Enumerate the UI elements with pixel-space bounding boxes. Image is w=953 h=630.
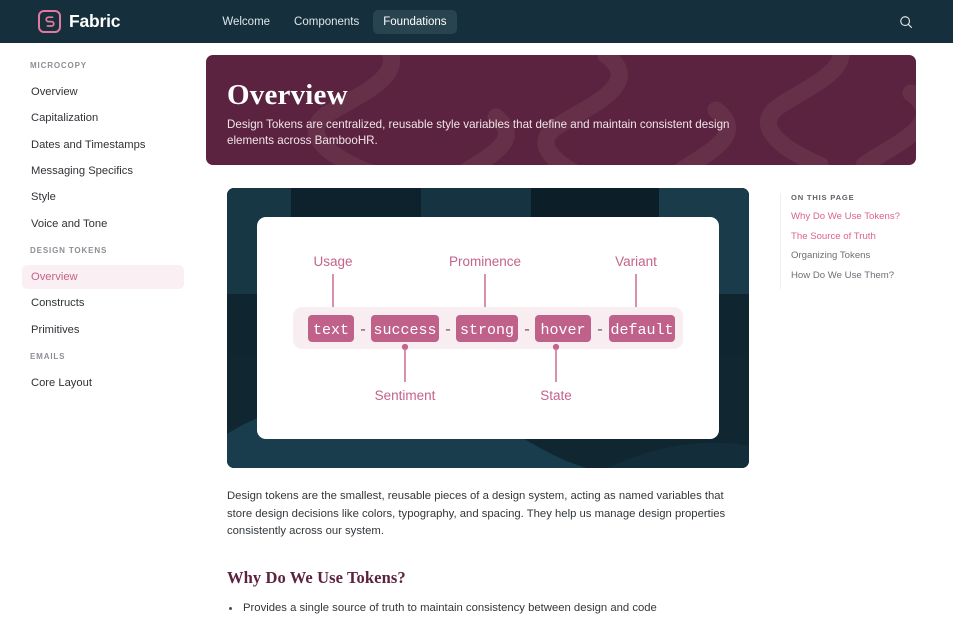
- sidebar-item-messaging-specifics[interactable]: Messaging Specifics: [22, 159, 184, 183]
- nav-link-components[interactable]: Components: [284, 10, 369, 34]
- svg-text:-: -: [595, 322, 604, 339]
- sidebar-group-title-emails: EMAILS: [22, 352, 184, 361]
- sidebar-item-microcopy-overview[interactable]: Overview: [22, 80, 184, 104]
- svg-text:success: success: [373, 322, 436, 339]
- page-title: Overview: [227, 81, 916, 110]
- list-item: Provides a single source of truth to mai…: [227, 601, 751, 617]
- main-content: Overview Design Tokens are centralized, …: [206, 43, 953, 630]
- sidebar-item-dates-and-timestamps[interactable]: Dates and Timestamps: [22, 133, 184, 157]
- svg-text:Sentiment: Sentiment: [375, 388, 436, 403]
- sidebar-item-primitives[interactable]: Primitives: [22, 318, 184, 342]
- page-hero-banner: Overview Design Tokens are centralized, …: [206, 55, 916, 165]
- toc-item-how-do-we-use-them[interactable]: How Do We Use Them?: [791, 270, 940, 282]
- primary-nav: Welcome Components Foundations: [212, 10, 456, 34]
- on-this-page-title: ON THIS PAGE: [791, 193, 940, 202]
- sidebar-item-voice-and-tone[interactable]: Voice and Tone: [22, 212, 184, 236]
- brand-name: Fabric: [69, 11, 120, 32]
- intro-paragraph: Design tokens are the smallest, reusable…: [227, 488, 751, 541]
- fabric-s-logo-icon: [38, 10, 61, 33]
- design-token-anatomy-diagram: Usage Prominence Variant: [227, 188, 749, 468]
- svg-text:strong: strong: [460, 322, 514, 339]
- svg-text:State: State: [540, 388, 572, 403]
- sidebar-group-title-design-tokens: DESIGN TOKENS: [22, 246, 184, 255]
- page-layout: MICROCOPY Overview Capitalization Dates …: [0, 43, 953, 630]
- diagram-svg: Usage Prominence Variant: [227, 188, 749, 468]
- on-this-page-nav: ON THIS PAGE Why Do We Use Tokens? The S…: [780, 193, 940, 289]
- section-heading-why-do-we-use-tokens: Why Do We Use Tokens?: [227, 568, 751, 588]
- svg-text:Prominence: Prominence: [449, 254, 521, 269]
- sidebar-item-core-layout[interactable]: Core Layout: [22, 371, 184, 395]
- sidebar-group-title-microcopy: MICROCOPY: [22, 61, 184, 70]
- svg-text:text: text: [313, 322, 349, 339]
- top-navigation-bar: Fabric Welcome Components Foundations: [0, 0, 953, 43]
- sidebar-item-style[interactable]: Style: [22, 185, 184, 209]
- svg-text:-: -: [358, 322, 367, 339]
- svg-text:default: default: [610, 322, 673, 339]
- content-and-toc: Usage Prominence Variant: [206, 165, 953, 630]
- sidebar-group-emails: EMAILS Core Layout: [22, 352, 184, 395]
- sidebar-item-constructs[interactable]: Constructs: [22, 291, 184, 315]
- search-icon[interactable]: [899, 15, 913, 29]
- svg-text:-: -: [522, 322, 531, 339]
- toc-item-the-source-of-truth[interactable]: The Source of Truth: [791, 231, 940, 243]
- sidebar-group-design-tokens: DESIGN TOKENS Overview Constructs Primit…: [22, 246, 184, 342]
- svg-text:-: -: [443, 322, 452, 339]
- nav-link-welcome[interactable]: Welcome: [212, 10, 280, 34]
- sidebar-item-capitalization[interactable]: Capitalization: [22, 106, 184, 130]
- toc-item-why-do-we-use-tokens[interactable]: Why Do We Use Tokens?: [791, 211, 940, 223]
- sidebar-group-microcopy: MICROCOPY Overview Capitalization Dates …: [22, 61, 184, 236]
- nav-link-foundations[interactable]: Foundations: [373, 10, 456, 34]
- benefits-list: Provides a single source of truth to mai…: [227, 601, 751, 630]
- svg-text:hover: hover: [540, 322, 585, 339]
- svg-text:Variant: Variant: [615, 254, 657, 269]
- article-body: Usage Prominence Variant: [206, 165, 751, 630]
- toc-item-organizing-tokens[interactable]: Organizing Tokens: [791, 250, 940, 262]
- left-sidebar: MICROCOPY Overview Capitalization Dates …: [0, 43, 206, 399]
- svg-text:Usage: Usage: [313, 254, 352, 269]
- brand-logo[interactable]: Fabric: [38, 10, 120, 33]
- sidebar-item-design-tokens-overview[interactable]: Overview: [22, 265, 184, 289]
- page-subtitle: Design Tokens are centralized, reusable …: [227, 117, 757, 150]
